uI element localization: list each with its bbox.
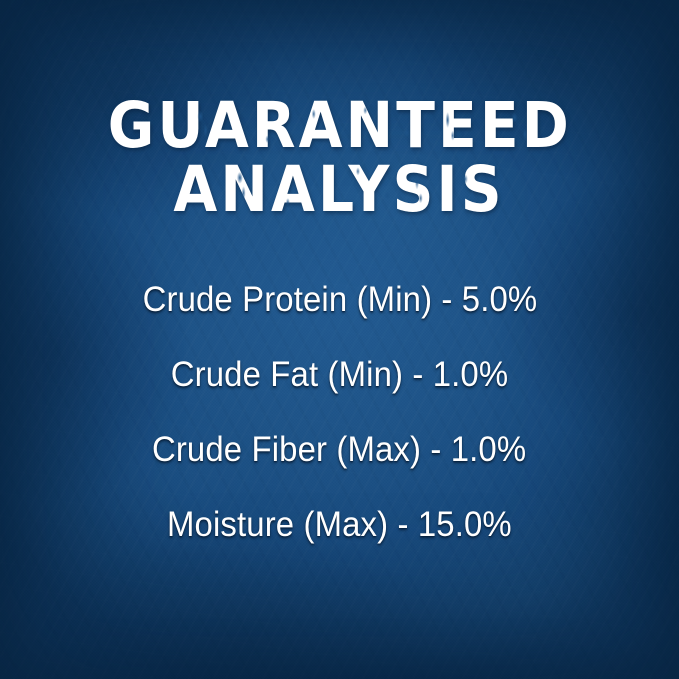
heading-line-2: ANALYSIS — [174, 160, 505, 220]
heading-line-1-wrap: GUARANTEED — [82, 96, 598, 156]
nutrition-row-moisture: Moisture (Max) - 15.0% — [167, 507, 512, 542]
nutrition-row-crude-fat: Crude Fat (Min) - 1.0% — [171, 357, 508, 392]
panel-content: GUARANTEED ANALYSIS Crude Protein (Min) … — [0, 0, 679, 679]
guaranteed-analysis-panel: GUARANTEED ANALYSIS Crude Protein (Min) … — [0, 0, 679, 679]
nutrition-list: Crude Protein (Min) - 5.0% Crude Fat (Mi… — [0, 282, 679, 542]
heading-line-1: GUARANTEED — [107, 96, 571, 156]
heading-line-2-wrap: ANALYSIS — [155, 156, 523, 220]
page-title: GUARANTEED ANALYSIS — [0, 96, 679, 220]
nutrition-row-crude-protein: Crude Protein (Min) - 5.0% — [142, 282, 537, 317]
nutrition-row-crude-fiber: Crude Fiber (Max) - 1.0% — [152, 432, 526, 467]
